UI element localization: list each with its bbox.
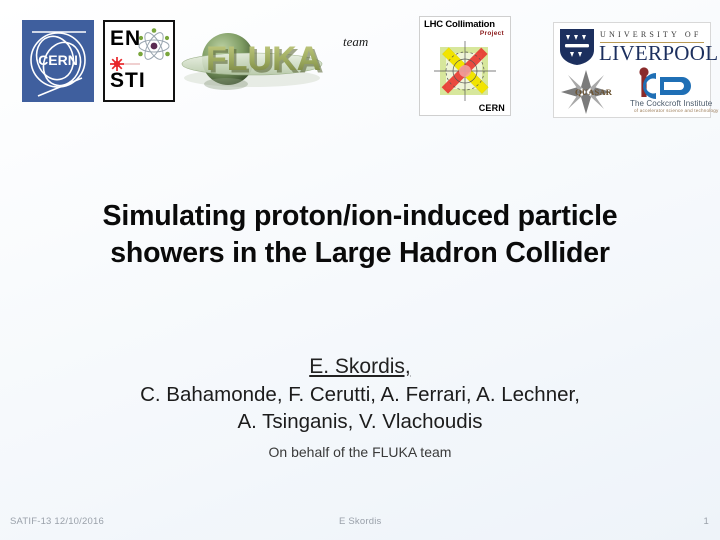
- liverpool-crest-icon: [559, 28, 595, 66]
- coauthors-line-2: A. Tsinganis, V. Vlachoudis: [40, 408, 680, 435]
- footer-presenter: E Skordis: [339, 516, 381, 527]
- liverpool-name-label: LIVERPOOL: [599, 43, 718, 64]
- cern-logo-text: CERN: [38, 52, 78, 68]
- lhc-collimation-subtitle: Project: [480, 30, 504, 37]
- cockcroft-tagline: of accelerator science and technology: [634, 108, 719, 113]
- cern-mark-icon: CERN: [22, 20, 94, 102]
- quasar-label: QUASAR: [575, 87, 612, 97]
- slide-title: Simulating proton/ion-induced particle s…: [40, 198, 680, 272]
- lhc-collimation-footer: CERN: [479, 103, 505, 113]
- logo-bar: CERN EN STI: [0, 0, 720, 128]
- atom-icon: [136, 27, 172, 65]
- fluka-logo-text: FLUKA: [206, 40, 321, 78]
- footer-event-date: SATIF-13 12/10/2016: [10, 516, 104, 527]
- slide-footer: SATIF-13 12/10/2016 E Skordis 1: [0, 514, 720, 532]
- liverpool-university-label: UNIVERSITY OF: [600, 30, 702, 39]
- slide-title-line-1: Simulating proton/ion-induced particle: [40, 198, 680, 235]
- laser-burst-icon: [107, 54, 141, 74]
- cockcroft-mark-icon: [630, 67, 692, 101]
- liverpool-logo-group: UNIVERSITY OF LIVERPOOL QUASAR: [553, 22, 711, 118]
- coauthors-line-1: C. Bahamonde, F. Cerutti, A. Ferrari, A.…: [40, 381, 680, 408]
- slide-title-line-2: showers in the Large Hadron Collider: [40, 235, 680, 272]
- lhc-collimation-logo: LHC Collimation Project: [419, 16, 511, 116]
- fluka-mark-icon: FLUKA FLUKA: [180, 22, 340, 108]
- authors-block: E. Skordis, C. Bahamonde, F. Cerutti, A.…: [40, 352, 680, 462]
- collimation-diagram-icon: [424, 37, 506, 111]
- presentation-slide: CERN EN STI: [0, 0, 720, 540]
- on-behalf-line: On behalf of the FLUKA team: [40, 443, 680, 462]
- presenting-author: E. Skordis,: [40, 352, 680, 381]
- lhc-collimation-title: LHC Collimation: [424, 19, 495, 30]
- cern-logo: CERN: [22, 20, 94, 102]
- fluka-logo: FLUKA FLUKA: [180, 22, 340, 108]
- footer-page-number: 1: [704, 516, 709, 527]
- en-sti-logo: EN STI: [103, 20, 175, 102]
- fluka-team-word: team: [343, 34, 368, 50]
- cockcroft-name-label: The Cockcroft Institute: [630, 99, 712, 108]
